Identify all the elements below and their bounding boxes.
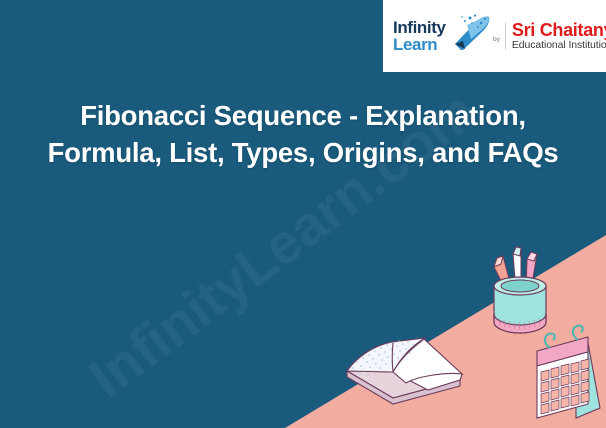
logo-divider: [505, 22, 506, 50]
logo-connector-by: by: [491, 36, 505, 43]
open-book-illustration: [347, 338, 462, 404]
article-banner: InfinityLearn.com Infinity Learn by Sri …: [0, 0, 606, 428]
sri-chaitanya-name: Sri Chaitanya: [512, 21, 600, 39]
pencil-cup-illustration: [494, 247, 546, 333]
brand-logo-card: Infinity Learn by Sri Chaitanya Educatio…: [383, 0, 606, 72]
rocket-arrow-icon: [451, 14, 491, 50]
infinity-learn-logo: Infinity Learn: [393, 12, 491, 60]
desk-calendar-illustration: [537, 326, 600, 418]
infinity-learn-word-top: Infinity: [393, 19, 446, 36]
sri-chaitanya-tagline: Educational Institutions: [512, 40, 600, 52]
sri-chaitanya-logo: Sri Chaitanya Educational Institutions: [512, 21, 600, 52]
infinity-learn-word-bottom: Learn: [393, 36, 437, 53]
page-title: Fibonacci Sequence - Explanation, Formul…: [30, 98, 576, 171]
